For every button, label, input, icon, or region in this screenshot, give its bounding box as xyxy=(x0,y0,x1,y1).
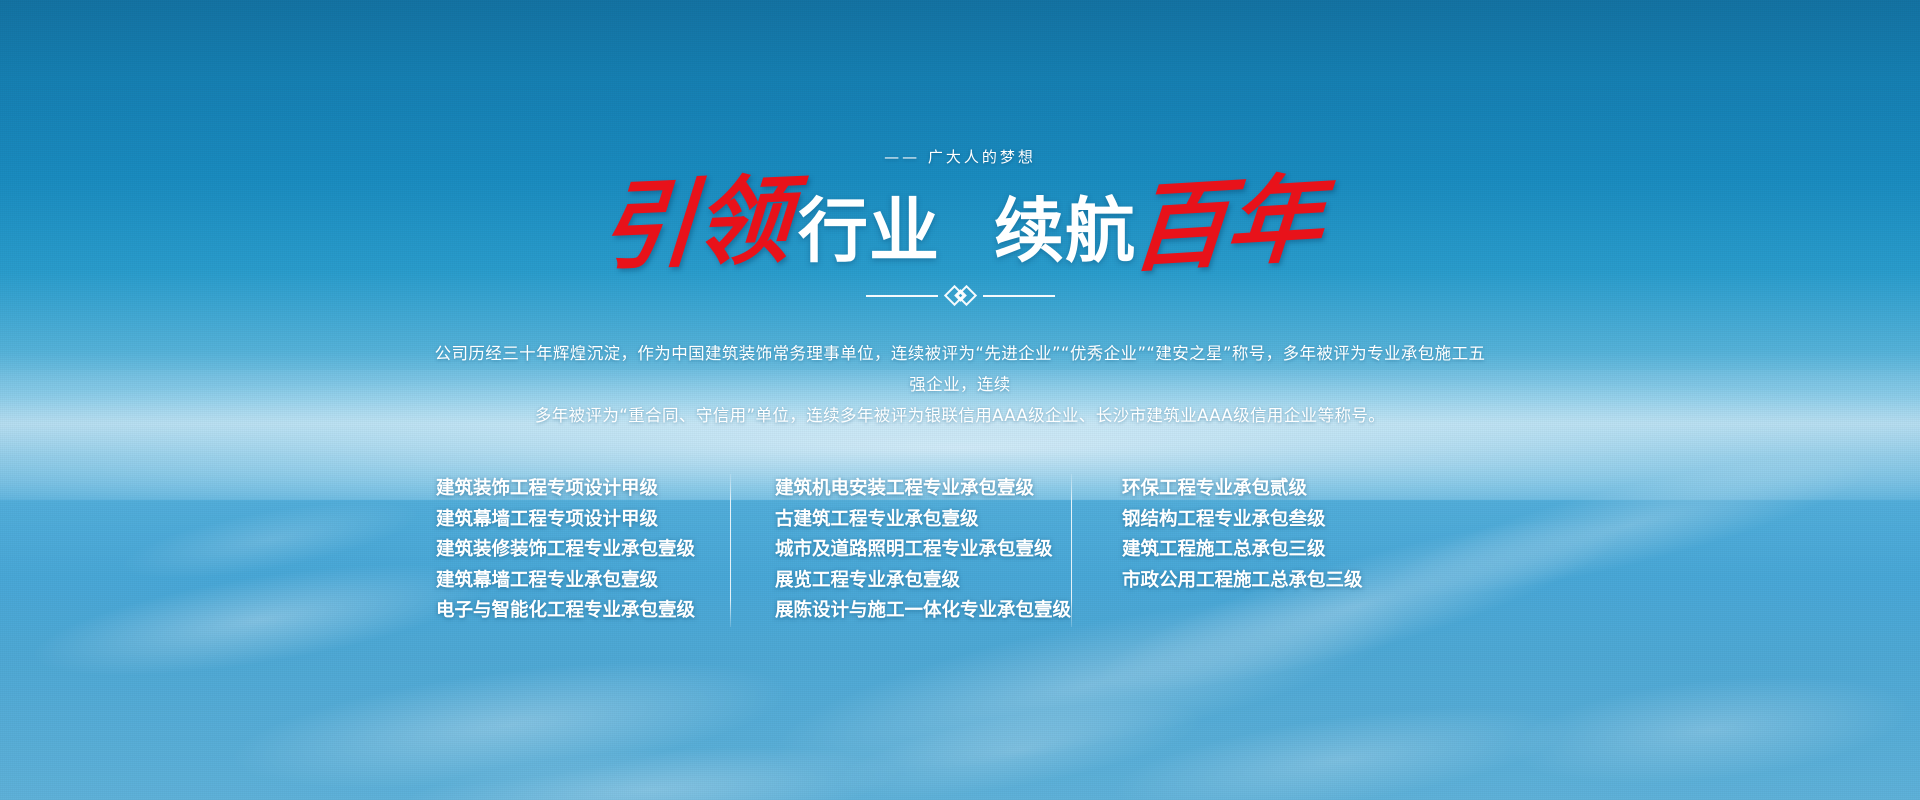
qualification-item: 电子与智能化工程专业承包壹级 xyxy=(436,596,730,627)
qualification-item: 钢结构工程专业承包叁级 xyxy=(1122,505,1372,536)
qualifications-column-2: 建筑机电安装工程专业承包壹级 古建筑工程专业承包壹级 城市及道路照明工程专业承包… xyxy=(731,474,1071,627)
headline-white-first: 行业 xyxy=(798,196,940,266)
qualification-item: 建筑装饰工程专项设计甲级 xyxy=(436,474,730,505)
diamond-divider xyxy=(0,288,1920,303)
qualifications-list: 建筑装饰工程专项设计甲级 建筑幕墙工程专项设计甲级 建筑装修装饰工程专业承包壹级… xyxy=(430,474,1490,627)
qualification-item: 建筑幕墙工程专项设计甲级 xyxy=(436,505,730,536)
headline-red-second: 百年 xyxy=(1128,170,1325,277)
hero-eyebrow: —— 广大人的梦想 xyxy=(0,146,1920,167)
hero-content: —— 广大人的梦想 引领 行业 续航 百年 公司历经三十年辉煌沉淀，作为中国建筑… xyxy=(0,0,1920,800)
hero-banner: —— 广大人的梦想 引领 行业 续航 百年 公司历经三十年辉煌沉淀，作为中国建筑… xyxy=(0,0,1920,800)
hero-description: 公司历经三十年辉煌沉淀，作为中国建筑装饰常务理事单位，连续被评为“先进企业”“优… xyxy=(430,338,1490,431)
divider-line-left xyxy=(866,295,938,297)
description-line: 公司历经三十年辉煌沉淀，作为中国建筑装饰常务理事单位，连续被评为“先进企业”“优… xyxy=(430,338,1490,400)
qualification-item: 建筑工程施工总承包三级 xyxy=(1122,535,1372,566)
qualification-item: 展览工程专业承包壹级 xyxy=(775,566,1071,597)
divider-diamonds xyxy=(950,288,971,303)
headline-white-second: 续航 xyxy=(994,196,1136,266)
qualifications-column-3: 环保工程专业承包贰级 钢结构工程专业承包叁级 建筑工程施工总承包三级 市政公用工… xyxy=(1072,474,1372,596)
qualification-item: 建筑装修装饰工程专业承包壹级 xyxy=(436,535,730,566)
qualification-item: 建筑幕墙工程专业承包壹级 xyxy=(436,566,730,597)
qualification-item: 城市及道路照明工程专业承包壹级 xyxy=(775,535,1071,566)
qualifications-column-1: 建筑装饰工程专项设计甲级 建筑幕墙工程专项设计甲级 建筑装修装饰工程专业承包壹级… xyxy=(430,474,730,627)
qualification-item: 市政公用工程施工总承包三级 xyxy=(1122,566,1372,597)
qualification-item: 环保工程专业承包贰级 xyxy=(1122,474,1372,505)
description-line: 多年被评为“重合同、守信用”单位，连续多年被评为银联信用AAA级企业、长沙市建筑… xyxy=(430,400,1490,431)
hero-headline: 引领 行业 续航 百年 xyxy=(0,176,1920,272)
qualification-item: 古建筑工程专业承包壹级 xyxy=(775,505,1071,536)
headline-red-first: 引领 xyxy=(597,172,792,276)
qualification-item: 建筑机电安装工程专业承包壹级 xyxy=(775,474,1071,505)
divider-line-right xyxy=(983,295,1055,297)
qualification-item: 展陈设计与施工一体化专业承包壹级 xyxy=(775,596,1071,627)
